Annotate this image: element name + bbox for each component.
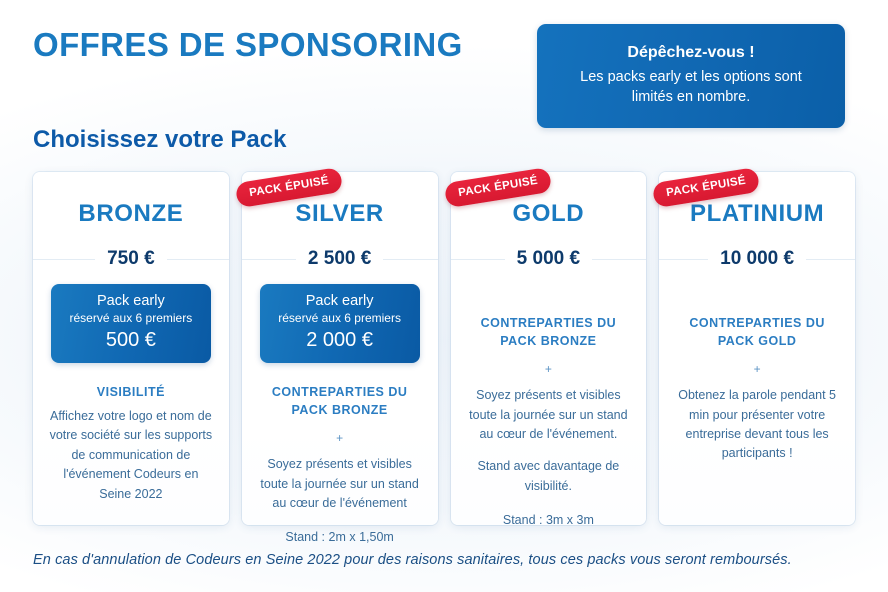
pack-card-platinium[interactable]: PACK ÉPUISÉ PLATINIUM 10 000 € CONTREPAR… — [659, 172, 855, 525]
pack-body: CONTREPARTIES DU PACK BRONZE + Soyez pré… — [465, 314, 633, 531]
pack-name: SILVER — [256, 200, 424, 228]
hurry-callout-box: Dépêchez-vous ! Les packs early et les o… — [537, 24, 845, 128]
benefit-text: Soyez présents et visibles toute la jour… — [256, 455, 424, 513]
benefit-text: Affichez votre logo et nom de votre soci… — [47, 407, 215, 504]
benefit-heading: CONTREPARTIES DU PACK BRONZE — [465, 314, 633, 350]
pack-price-row: 10 000 € — [673, 248, 841, 270]
pack-name: BRONZE — [47, 200, 215, 228]
cancellation-note: En cas d'annulation de Codeurs en Seine … — [33, 552, 792, 568]
hurry-line-2: limités en nombre. — [632, 88, 750, 108]
pack-cards-row: BRONZE 750 € Pack early réservé aux 6 pr… — [33, 172, 855, 525]
early-pack-price: 500 € — [57, 329, 205, 352]
pack-body: CONTREPARTIES DU PACK GOLD + Obtenez la … — [673, 314, 841, 464]
pack-body: CONTREPARTIES DU PACK BRONZE + Soyez pré… — [256, 383, 424, 548]
pack-card-bronze[interactable]: BRONZE 750 € Pack early réservé aux 6 pr… — [33, 172, 229, 525]
pack-price-row: 750 € — [47, 248, 215, 270]
plus-separator: + — [673, 362, 841, 376]
early-pack-title: Pack early — [266, 293, 414, 310]
pack-name: GOLD — [465, 200, 633, 228]
benefit-heading: VISIBILITÉ — [47, 383, 215, 401]
benefit-text-secondary: Stand avec davantage de visibilité. — [465, 457, 633, 496]
hurry-line-1: Les packs early et les options sont — [580, 68, 802, 88]
stand-size-text: Stand : 2m x 1,50m — [256, 528, 424, 547]
pack-card-silver[interactable]: PACK ÉPUISÉ SILVER 2 500 € Pack early ré… — [242, 172, 438, 525]
pack-price: 750 € — [95, 248, 167, 270]
benefit-heading: CONTREPARTIES DU PACK BRONZE — [256, 383, 424, 419]
pack-price: 5 000 € — [505, 248, 592, 270]
early-pack-title: Pack early — [57, 293, 205, 310]
page-title: OFFRES DE SPONSORING — [33, 26, 463, 64]
pack-body: VISIBILITÉ Affichez votre logo et nom de… — [47, 383, 215, 504]
early-pack-subtitle: réservé aux 6 premiers — [57, 311, 205, 327]
plus-separator: + — [465, 362, 633, 376]
benefit-heading: CONTREPARTIES DU PACK GOLD — [673, 314, 841, 350]
sponsoring-offers-page: OFFRES DE SPONSORING Dépêchez-vous ! Les… — [0, 0, 888, 592]
stand-size-text: Stand : 3m x 3m — [465, 511, 633, 530]
pack-card-gold[interactable]: PACK ÉPUISÉ GOLD 5 000 € CONTREPARTIES D… — [451, 172, 647, 525]
early-pack-offer[interactable]: Pack early réservé aux 6 premiers 2 000 … — [260, 284, 420, 363]
benefit-text: Obtenez la parole pendant 5 min pour pré… — [673, 386, 841, 464]
hurry-title: Dépêchez-vous ! — [627, 44, 754, 62]
section-subtitle: Choisissez votre Pack — [33, 126, 286, 154]
pack-name: PLATINIUM — [673, 200, 841, 228]
plus-separator: + — [256, 431, 424, 445]
early-pack-subtitle: réservé aux 6 premiers — [266, 311, 414, 327]
pack-price: 2 500 € — [296, 248, 383, 270]
pack-price: 10 000 € — [708, 248, 806, 270]
pack-price-row: 5 000 € — [465, 248, 633, 270]
early-pack-offer[interactable]: Pack early réservé aux 6 premiers 500 € — [51, 284, 211, 363]
pack-price-row: 2 500 € — [256, 248, 424, 270]
early-pack-price: 2 000 € — [266, 329, 414, 352]
benefit-text: Soyez présents et visibles toute la jour… — [465, 386, 633, 444]
